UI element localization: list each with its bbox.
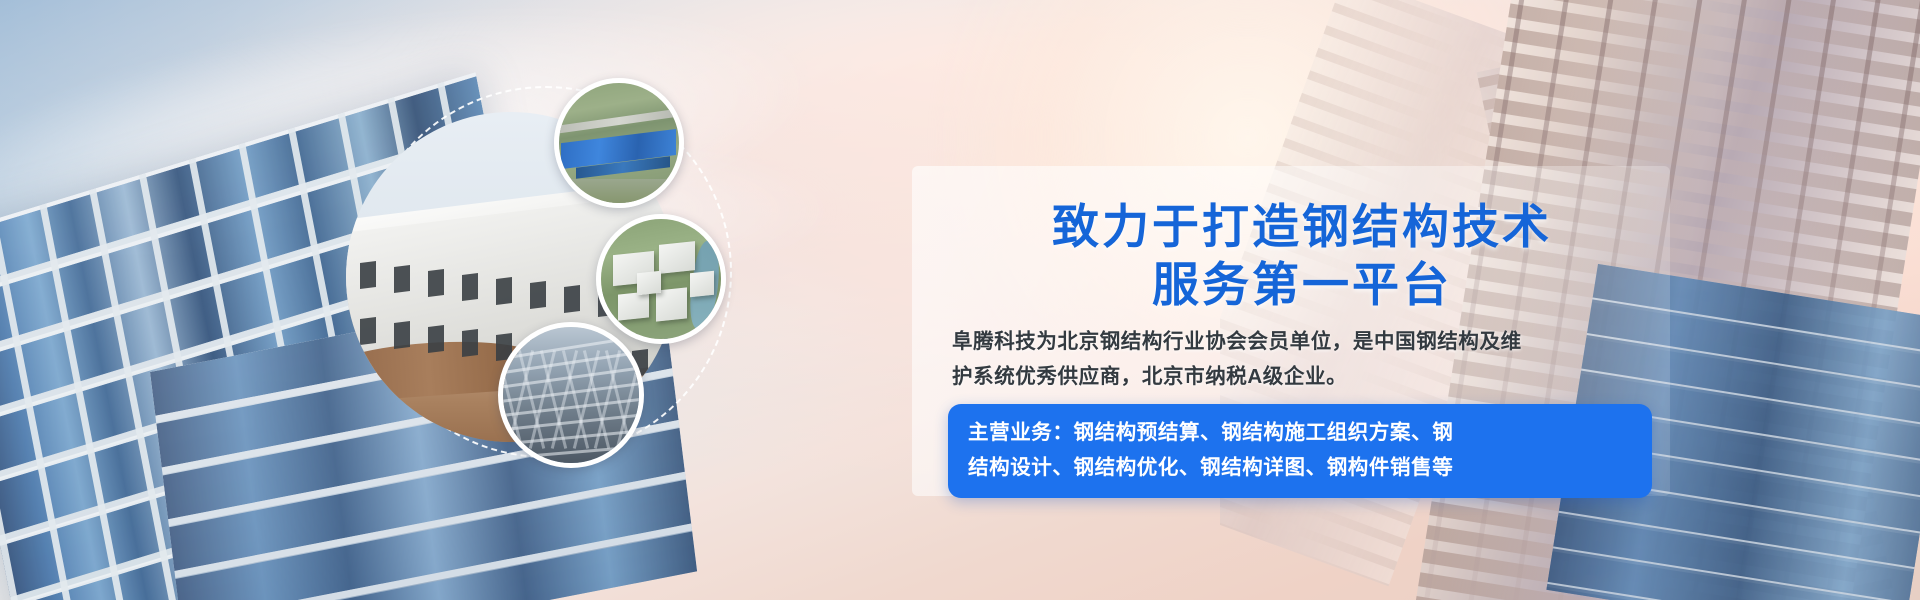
- description-line-2: 护系统优秀供应商，北京市纳税A级企业。: [952, 359, 1612, 394]
- decorative-shape: [360, 261, 376, 289]
- headline-line-1: 致力于打造钢结构技术: [952, 200, 1652, 256]
- services-line-1: 主营业务：钢结构预结算、钢结构施工组织方案、钢: [968, 415, 1632, 450]
- page-title: 致力于打造钢结构技术 服务第一平台: [952, 200, 1652, 314]
- hero-banner: 致力于打造钢结构技术 服务第一平台 阜腾科技为北京钢结构行业协会会员单位，是中国…: [0, 0, 1920, 600]
- decorative-shape: [659, 241, 695, 274]
- headline-line-2: 服务第一平台: [952, 258, 1652, 314]
- photo-steel-truss-structure: [498, 322, 644, 468]
- services-line-2: 结构设计、钢结构优化、钢结构详图、钢构件销售等: [968, 450, 1632, 485]
- decorative-shape: [394, 321, 410, 349]
- services-badge: 主营业务：钢结构预结算、钢结构施工组织方案、钢 结构设计、钢结构优化、钢结构详图…: [948, 404, 1652, 498]
- decorative-shape: [564, 285, 580, 313]
- photo-aerial-industrial-campus: [596, 214, 726, 344]
- decorative-shape: [428, 325, 444, 353]
- photo-aerial-blue-roof-factory: [554, 78, 684, 208]
- decorative-shape: [496, 277, 512, 305]
- decorative-shape: [530, 281, 546, 309]
- decorative-shape: [637, 271, 661, 295]
- decorative-shape: [690, 271, 714, 298]
- decorative-shape: [618, 292, 649, 322]
- decorative-shape: [360, 317, 376, 345]
- decorative-shape: [394, 265, 410, 293]
- decorative-shape: [428, 269, 444, 297]
- description-line-1: 阜腾科技为北京钢结构行业协会会员单位，是中国钢结构及维: [952, 324, 1612, 359]
- decorative-shape: [462, 273, 478, 301]
- company-description: 阜腾科技为北京钢结构行业协会会员单位，是中国钢结构及维 护系统优秀供应商，北京市…: [952, 324, 1612, 394]
- decorative-shape: [462, 329, 478, 357]
